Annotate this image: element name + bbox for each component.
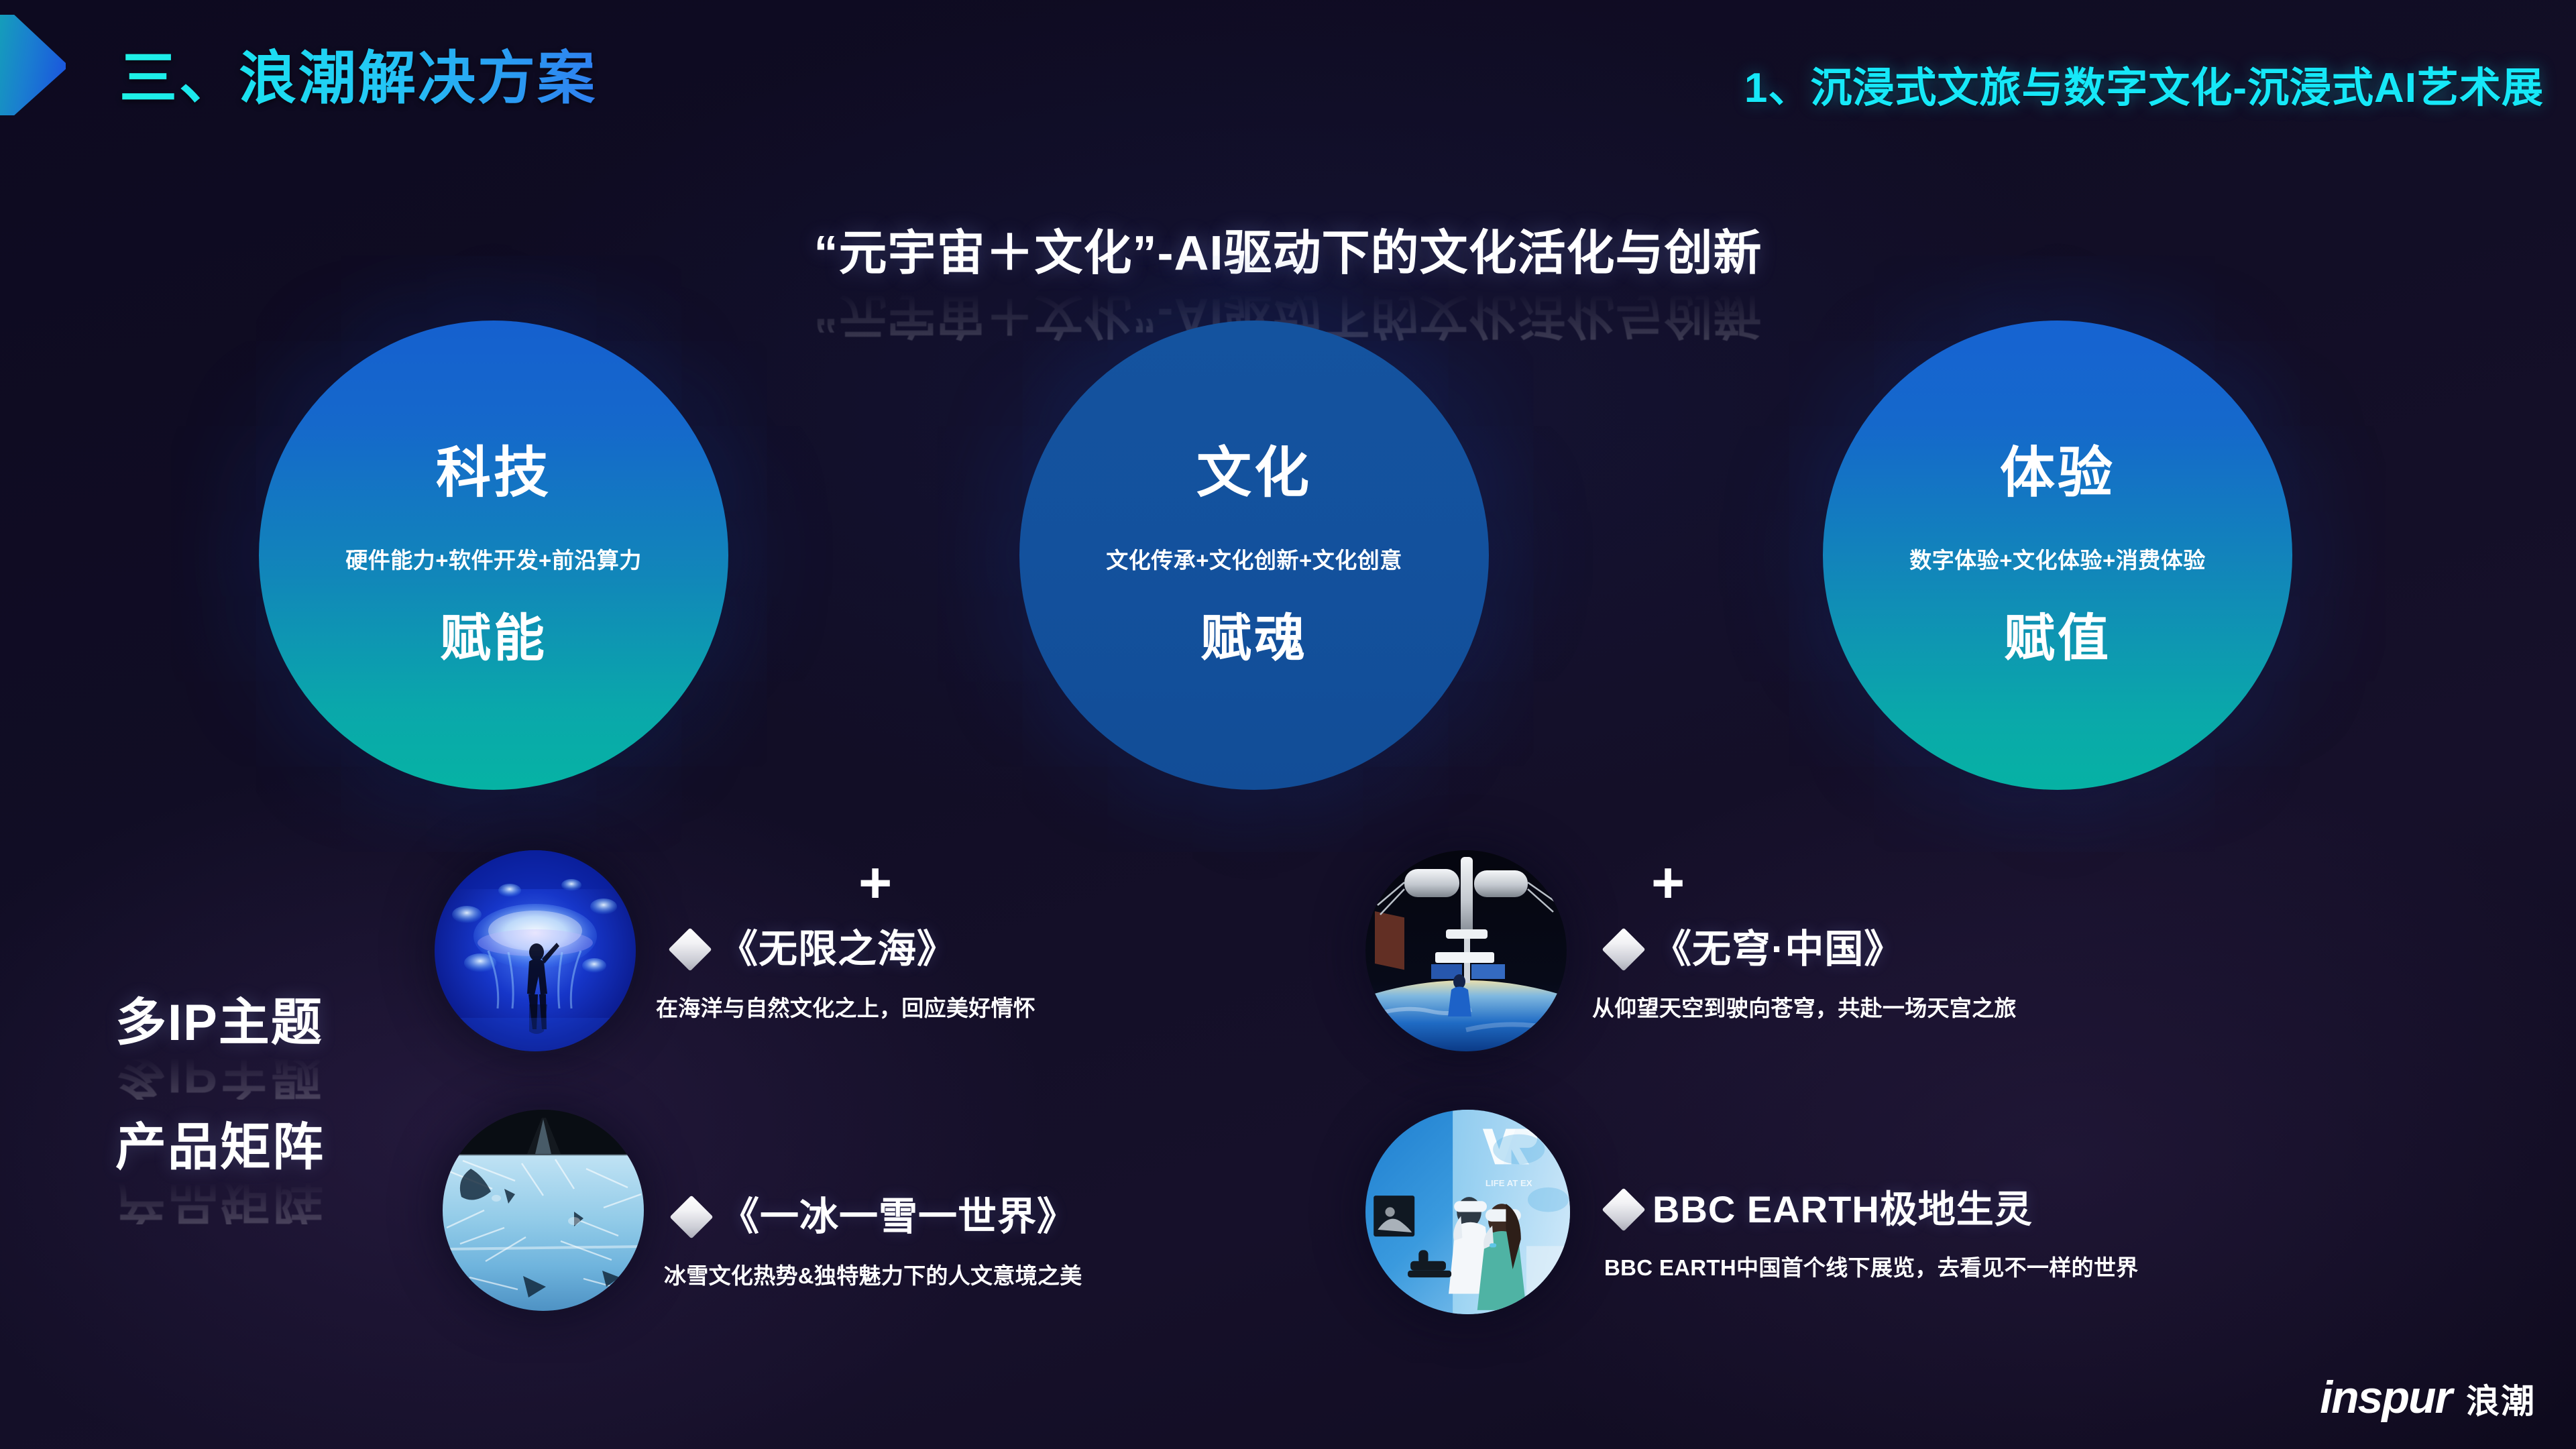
pillar-footer: 赋值 (2004, 614, 2111, 664)
matrix-line-2: 产品矩阵 产品矩阵 (115, 1122, 325, 1224)
diamond-bullet-icon (1602, 928, 1645, 972)
diamond-bullet-icon (669, 1196, 713, 1239)
pillar-title: 科技 (436, 446, 551, 501)
product-subtitle: 冰雪文化热势&独特魅力下的人文意境之美 (664, 1258, 1082, 1290)
product-title: 《无穹·中国》 (1653, 929, 1903, 970)
vr-headset-visitors-photo: LIFE AT EX (1365, 1110, 1570, 1314)
product-title-row-1: 《无限之海》 (675, 929, 1035, 970)
topic-title: 1、沉浸式文旅与数字文化-沉浸式AI艺术展 (1744, 54, 2544, 114)
svg-text:LIFE AT EX: LIFE AT EX (1486, 1178, 1532, 1188)
product-title-row-3: 《一冰一雪一世界》 (676, 1197, 1082, 1238)
matrix-reflection-1: 多IP主题 (115, 1049, 325, 1100)
pillar-footer: 赋能 (440, 614, 547, 664)
plus-operator-1: + (858, 854, 892, 912)
matrix-text-2: 产品矩阵 (115, 1122, 325, 1173)
pillar-group: 科技 硬件能力+软件开发+前沿算力 赋能 + 文化 文化传承+文化创新+文化创意… (0, 314, 2576, 810)
product-subtitle: BBC EARTH中国首个线下展览，去看见不一样的世界 (1604, 1250, 2138, 1282)
pillar-circle-experience[interactable]: 体验 数字体验+文化体验+消费体验 赋值 (1823, 321, 2292, 790)
pillar-description: 数字体验+文化体验+消费体验 (1909, 542, 2206, 575)
section-title: 三、浪潮解决方案 (119, 31, 597, 115)
ice-crystal-hall-photo (443, 1110, 644, 1311)
pillar-description: 文化传承+文化创新+文化创意 (1106, 542, 1402, 575)
diamond-bullet-icon (1602, 1188, 1645, 1232)
subtitle-text: “元宇宙＋文化”-AI驱动下的文化活化与创新 (814, 213, 1762, 284)
matrix-line-1: 多IP主题 多IP主题 (115, 998, 325, 1100)
pillar-circle-culture[interactable]: 文化 文化传承+文化创新+文化创意 赋魂 (1019, 321, 1489, 790)
chevron-accent-icon (0, 15, 66, 115)
inspur-logo: inspur 浪潮 (2320, 1371, 2536, 1424)
slide-root: 三、浪潮解决方案 1、沉浸式文旅与数字文化-沉浸式AI艺术展 “元宇宙＋文化”-… (0, 0, 2576, 1449)
logo-wordmark-cn: 浪潮 (2466, 1375, 2536, 1423)
space-station-over-earth-photo (1365, 850, 1567, 1051)
pillar-title: 文化 (1196, 446, 1312, 501)
product-subtitle: 在海洋与自然文化之上，回应美好情怀 (656, 990, 1035, 1023)
product-title: 《一冰一雪一世界》 (720, 1197, 1076, 1238)
product-title-row-2: 《无穹·中国》 (1608, 929, 2017, 970)
product-subtitle: 从仰望天空到驶向苍穹，共赴一场天宫之旅 (1592, 990, 2017, 1023)
matrix-text-1: 多IP主题 (115, 998, 325, 1049)
product-text-4: BBC EARTH极地生灵 BBC EARTH中国首个线下展览，去看见不一样的世… (1608, 1190, 2138, 1282)
pillar-title: 体验 (2000, 446, 2115, 501)
product-text-2: 《无穹·中国》 从仰望天空到驶向苍穹，共赴一场天宫之旅 (1608, 929, 2017, 1023)
product-title-row-4: BBC EARTH极地生灵 (1608, 1190, 2138, 1230)
jellyfish-immersive-room-photo (435, 850, 636, 1051)
pillar-circle-technology[interactable]: 科技 硬件能力+软件开发+前沿算力 赋能 (259, 321, 728, 790)
product-title: BBC EARTH极地生灵 (1653, 1190, 2033, 1230)
product-text-3: 《一冰一雪一世界》 冰雪文化热势&独特魅力下的人文意境之美 (676, 1197, 1082, 1290)
pillar-footer: 赋魂 (1200, 614, 1308, 664)
product-text-1: 《无限之海》 在海洋与自然文化之上，回应美好情怀 (675, 929, 1035, 1023)
plus-operator-2: + (1651, 854, 1685, 912)
diamond-bullet-icon (668, 928, 712, 972)
pillar-description: 硬件能力+软件开发+前沿算力 (345, 542, 642, 575)
logo-wordmark-en: inspur (2320, 1371, 2451, 1424)
matrix-reflection-2: 产品矩阵 (115, 1173, 325, 1224)
product-title: 《无限之海》 (719, 929, 956, 970)
matrix-label-block: 多IP主题 多IP主题 产品矩阵 产品矩阵 (115, 998, 325, 1247)
